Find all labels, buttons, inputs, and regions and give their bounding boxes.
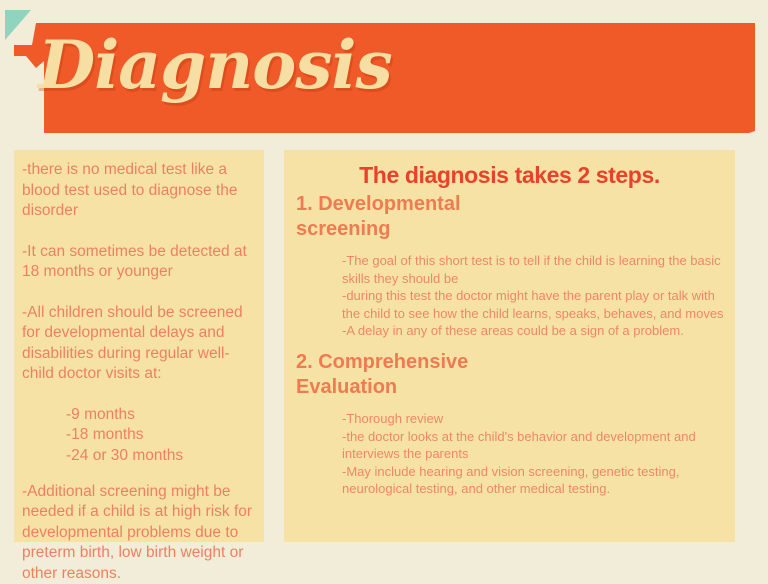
step-1-block: 1. Developmental screening -The goal of … (296, 192, 725, 340)
left-panel-body: -there is no medical test like a blood t… (22, 160, 258, 584)
step-2-title: 2. Comprehensive Evaluation (296, 350, 511, 400)
header-banner: Diagnosis (14, 23, 755, 133)
right-info-panel: The diagnosis takes 2 steps. 1. Developm… (284, 150, 735, 542)
step-2-details: -Thorough review -the doctor looks at th… (296, 410, 725, 498)
left-bullet-4: -Additional screening might be needed if… (22, 482, 258, 584)
step-2-block: 2. Comprehensive Evaluation -Thorough re… (296, 350, 725, 498)
right-panel-heading: The diagnosis takes 2 steps. (284, 162, 735, 189)
step-1-detail-1: -The goal of this short test is to tell … (342, 252, 725, 287)
list-item: -18 months (22, 425, 258, 446)
step-2-detail-2: -the doctor looks at the child's behavio… (342, 428, 725, 463)
list-item: -9 months (22, 405, 258, 426)
left-bullet-2: -It can sometimes be detected at 18 mont… (22, 242, 258, 283)
step-1-detail-2: -during this test the doctor might have … (342, 287, 725, 322)
left-bullet-3: -All children should be screened for dev… (22, 303, 258, 385)
step-2-detail-1: -Thorough review (342, 410, 725, 428)
list-item: -24 or 30 months (22, 446, 258, 467)
left-bullet-3-text: -All children should be screened for dev… (22, 304, 243, 383)
page-title: Diagnosis (38, 29, 392, 103)
step-1-detail-3: -A delay in any of these areas could be … (342, 322, 725, 340)
ages-list: -9 months -18 months -24 or 30 months (22, 405, 258, 467)
step-1-title: 1. Developmental screening (296, 192, 511, 242)
step-1-details: -The goal of this short test is to tell … (296, 252, 725, 340)
step-2-detail-3: -May include hearing and vision screenin… (342, 463, 725, 498)
left-bullet-1: -there is no medical test like a blood t… (22, 160, 258, 222)
corner-fold-icon (5, 10, 31, 40)
left-info-panel: -there is no medical test like a blood t… (14, 150, 264, 542)
